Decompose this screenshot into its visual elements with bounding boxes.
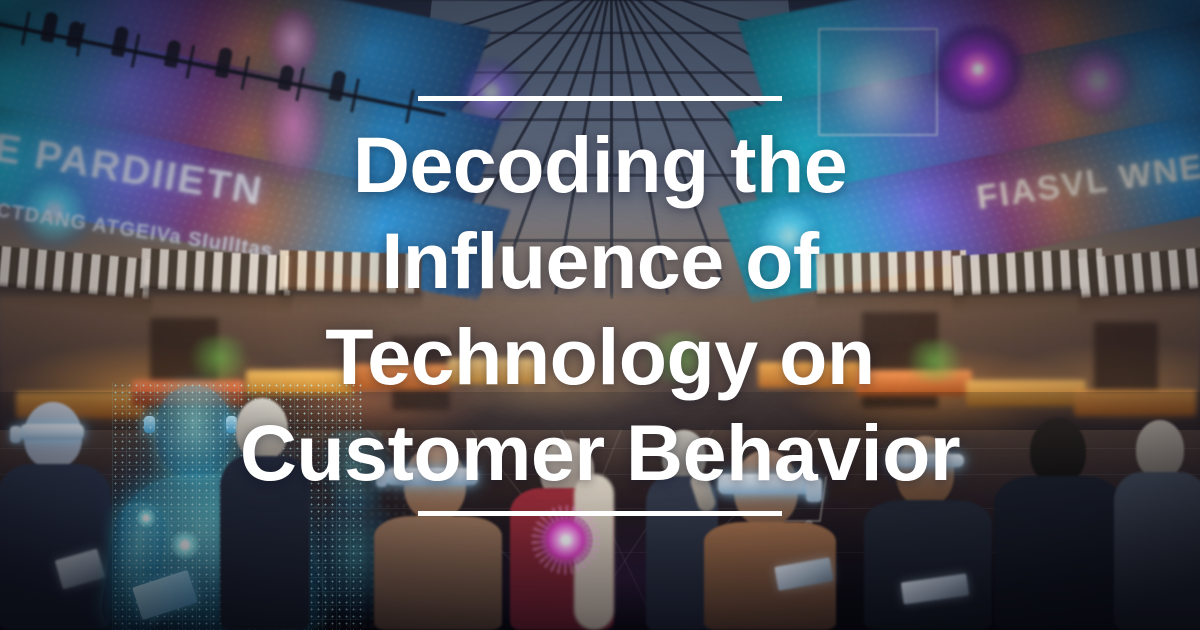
page-title: Decoding the Influence of Technology on … [40, 101, 1160, 511]
horizontal-rule-bottom [418, 511, 782, 516]
title-overlay: Decoding the Influence of Technology on … [0, 0, 1200, 630]
article-hero-banner: E PARDIIETN ICTDANG ATGEIVa SIuIlItas FI… [0, 0, 1200, 630]
